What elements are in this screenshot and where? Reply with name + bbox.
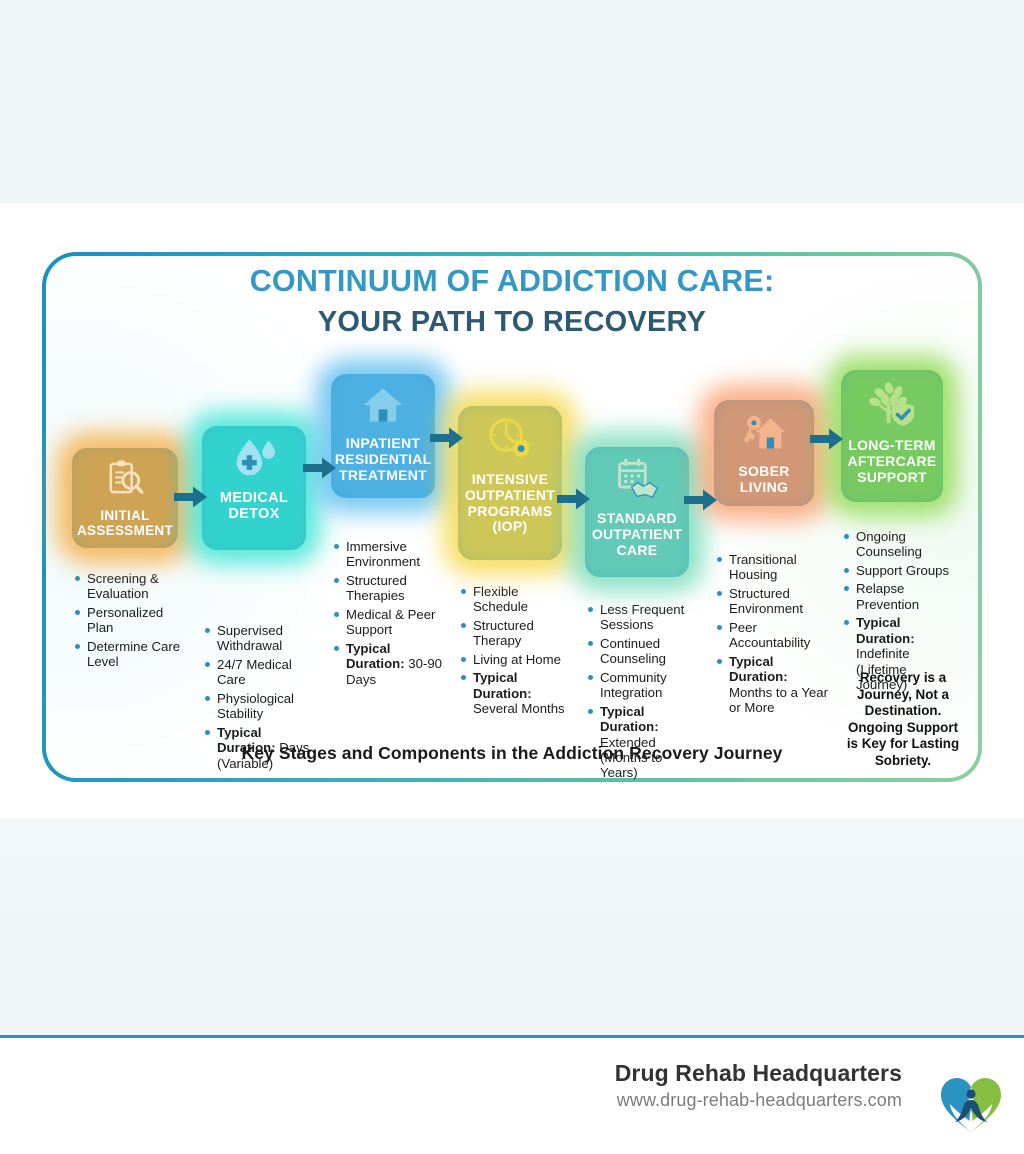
water-drop-cross-icon [232,436,276,485]
stage-card-initial-assessment[interactable]: INITIAL ASSESSMENT [72,448,178,548]
stage-bullet-item: Relapse Prevention [843,581,961,612]
stage-label: SOBER LIVING [720,464,808,496]
stage-bullet-item: Living at Home [460,652,576,667]
stage-bullet-item: Structured Environment [716,586,828,617]
stage-label: INITIAL ASSESSMENT [77,508,173,539]
brand-name: Drug Rehab Headquarters [615,1060,902,1087]
stage-label: LONG-TERM AFTERCARE SUPPORT [847,438,937,485]
stage-bullet-item: Continued Counseling [587,636,703,667]
stage-bullet-item: Structured Therapy [460,618,576,649]
stage-bullet-item: Personalized Plan [74,605,186,636]
bullet-strong-label: Typical Duration: [856,615,915,645]
stage-bullet-item: Structured Therapies [333,573,445,604]
top-background-band [0,0,1024,203]
stage-bullet-item: Peer Accountability [716,620,828,651]
stage-label: MEDICAL DETOX [208,490,300,523]
stage-bullet-list: Immersive EnvironmentStructured Therapie… [333,539,445,690]
stage-bullet-item: Ongoing Counseling [843,529,961,560]
flow-arrow-5 [684,487,718,518]
stage-bullet-list: Flexible ScheduleStructured TherapyLivin… [460,584,576,720]
stage-card-standard-outpatient-care[interactable]: STANDARD OUTPATIENT CARE [585,447,689,577]
bullet-strong-label: Typical Duration: [473,670,532,700]
stage-card-medical-detox[interactable]: MEDICAL DETOX [202,426,306,550]
key-house-icon [742,410,786,459]
bullet-strong-label: Typical Duration: [600,704,659,734]
bullet-strong-label: Typical Duration: [217,725,276,755]
stage-card-inpatient-residential-treatment[interactable]: INPATIENT RESIDENTIAL TREATMENT [331,374,435,498]
stage-bullet-item: Support Groups [843,563,961,578]
stage-bullet-item: Less Frequent Sessions [587,602,703,633]
heart-people-logo [938,1074,1004,1141]
stage-label: INPATIENT RESIDENTIAL TREATMENT [335,436,431,483]
footer-brand: Drug Rehab Headquarters www.drug-rehab-h… [615,1060,902,1111]
flow-arrow-6 [810,426,844,457]
clipboard-magnifier-icon [105,458,145,503]
bullet-strong-label: Typical Duration: [729,654,788,684]
stage-bullet-item: Screening & Evaluation [74,571,186,602]
stage-card-long-term-aftercare-support[interactable]: LONG-TERM AFTERCARE SUPPORT [841,370,943,502]
stage-card-sober-living[interactable]: SOBER LIVING [714,400,814,506]
flow-arrow-1 [174,484,208,515]
stage-bullet-item: Determine Care Level [74,639,186,670]
flow-arrow-3 [430,425,464,456]
infographic-caption: Key Stages and Components in the Addicti… [46,743,978,764]
calendar-handshake-icon [615,457,659,506]
stage-bullet-item: Typical Duration: Extended (Months to Ye… [587,704,703,781]
closing-note: Recovery is a Journey, Not a Destination… [841,670,965,770]
stage-bullet-item: Flexible Schedule [460,584,576,615]
stage-label: INTENSIVE OUTPATIENT PROGRAMS (IOP) [464,472,556,535]
tree-shield-check-icon [868,380,916,433]
page-title-line2: YOUR PATH TO RECOVERY [46,306,978,339]
stage-bullet-list: Screening & EvaluationPersonalized PlanD… [74,571,186,673]
stage-bullet-item: Typical Duration: Months to a Year or Mo… [716,654,828,716]
stage-bullet-item: Typical Duration: Days (Variable) [204,725,314,771]
bullet-strong-label: Typical Duration: [346,641,405,671]
stage-bullet-item: Supervised Withdrawal [204,623,314,654]
flow-arrow-4 [557,486,591,517]
stage-bullet-item: Physiological Stability [204,691,314,722]
stage-bullet-item: Medical & Peer Support [333,607,445,638]
flow-arrow-2 [303,455,337,486]
stage-bullet-item: 24/7 Medical Care [204,657,314,688]
house-icon [362,384,404,431]
stage-bullet-list: Less Frequent SessionsContinued Counseli… [587,602,703,784]
stage-bullet-item: Immersive Environment [333,539,445,570]
stage-bullet-item: Transitional Housing [716,552,828,583]
stage-bullet-item: Typical Duration: Several Months [460,670,576,716]
footer-divider [0,1035,1024,1038]
clock-gear-icon [487,416,533,467]
stage-bullet-list: Transitional HousingStructured Environme… [716,552,828,718]
brand-url[interactable]: www.drug-rehab-headquarters.com [615,1090,902,1111]
title-block: CONTINUUM OF ADDICTION CARE: YOUR PATH T… [46,256,978,339]
stage-label: STANDARD OUTPATIENT CARE [591,511,683,558]
stage-bullet-item: Community Integration [587,670,703,701]
page-title-line1: CONTINUUM OF ADDICTION CARE: [46,264,978,299]
stage-bullet-list: Supervised Withdrawal24/7 Medical CarePh… [204,623,314,774]
stage-card-intensive-outpatient-programs[interactable]: INTENSIVE OUTPATIENT PROGRAMS (IOP) [458,406,562,560]
bottom-background-band [0,818,1024,1036]
stage-bullet-item: Typical Duration: 30-90 Days [333,641,445,687]
